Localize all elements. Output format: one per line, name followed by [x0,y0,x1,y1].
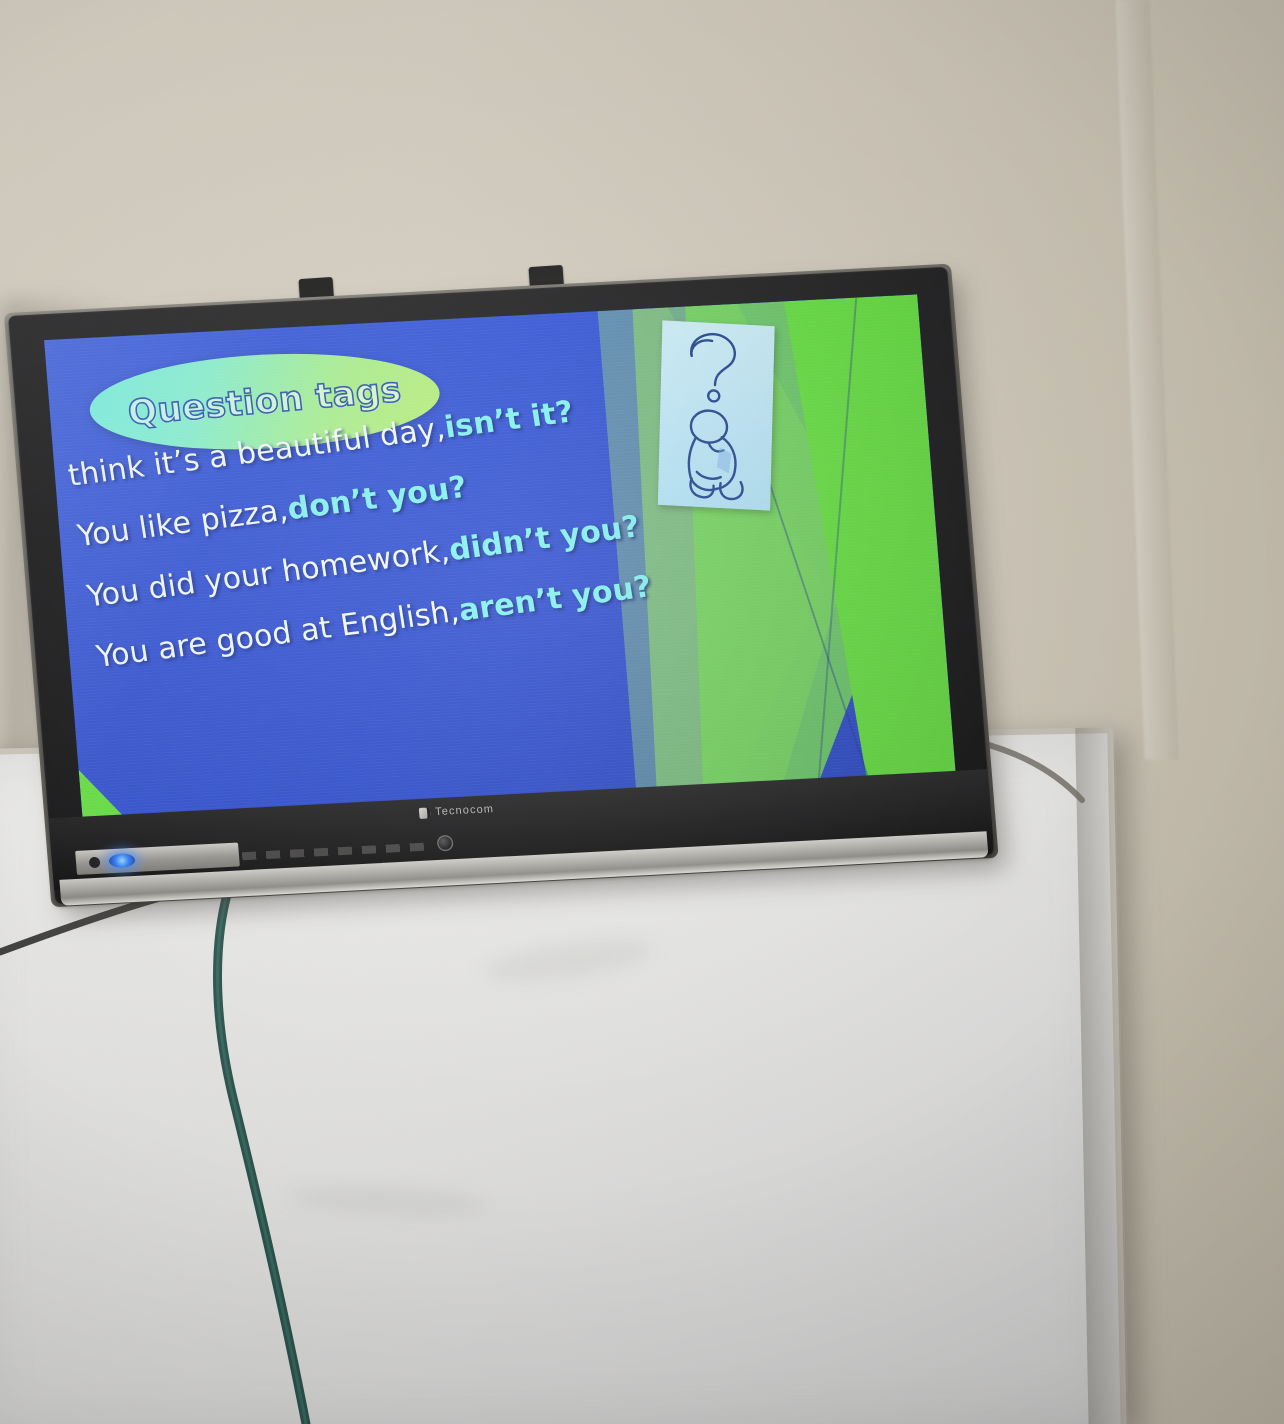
photo-vignette [0,0,1284,1424]
photo-scene: Question tags think it’s a beautiful day… [0,0,1284,1424]
